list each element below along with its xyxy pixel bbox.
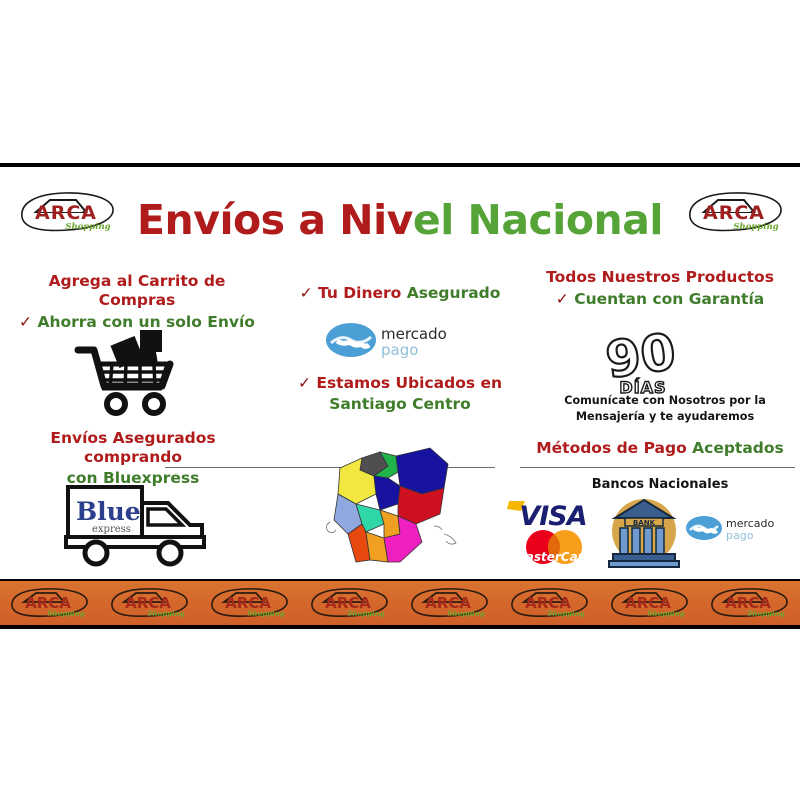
santiago-regions-map xyxy=(318,442,468,572)
mastercard-label-master: Master xyxy=(514,550,562,564)
right-warranty-subheading: Cuentan con Garantía xyxy=(574,290,764,308)
bank-building-icon: BANK xyxy=(605,492,683,570)
footer-arca-logo: ARCA Shopping xyxy=(306,585,394,621)
footer-arca-logo: ARCA Shopping xyxy=(706,585,794,621)
footer-logo-band: ARCA Shopping ARCA Shopping ARCA Shoppin… xyxy=(0,579,800,625)
title-part-red: Envíos a Niv xyxy=(137,196,413,244)
mercadopago-logo: mercado pago xyxy=(325,319,473,361)
mastercard-label-card: Card xyxy=(561,550,593,564)
mercadopago-line2: pago xyxy=(726,529,754,542)
left-block-cart-heading: Agrega al Carrito de Compras xyxy=(12,272,262,310)
svg-text:Shopping: Shopping xyxy=(347,609,384,618)
footer-arca-logo: ARCA Shopping xyxy=(406,585,494,621)
svg-text:MasterCard: MasterCard xyxy=(514,550,593,564)
right-block-payments: Métodos de Pago Aceptados xyxy=(528,439,792,458)
promo-banner: ARCA Shopping ARCA Shopping Envíos a Niv… xyxy=(0,163,800,629)
delivery-truck-icon: Blue express xyxy=(62,479,237,567)
shopping-cart-icon xyxy=(72,322,182,417)
truck-brand-express: express xyxy=(92,524,131,535)
footer-arca-logo: ARCA Shopping xyxy=(106,585,194,621)
divider-right xyxy=(520,467,795,468)
center-money-heading-red: Tu Dinero xyxy=(318,284,401,302)
check-icon: ✓ xyxy=(298,374,311,392)
svg-text:Shopping: Shopping xyxy=(647,609,684,618)
warranty-note: Comunícate con Nosotros por la Mensajerí… xyxy=(540,393,790,424)
visa-logo: VISA xyxy=(505,497,601,531)
center-money-heading-green: Asegurado xyxy=(407,284,501,302)
banks-label: Bancos Nacionales xyxy=(528,477,792,492)
right-block-warranty: Todos Nuestros Productos ✓ Cuentan con G… xyxy=(528,268,792,309)
check-icon: ✓ xyxy=(556,290,569,308)
truck-brand-blue: Blue xyxy=(76,497,141,526)
center-block-money: ✓ Tu Dinero Asegurado xyxy=(281,284,519,303)
banner-title: Envíos a Nivel Nacional xyxy=(0,196,800,244)
footer-arca-logo: ARCA Shopping xyxy=(506,585,594,621)
warranty-note-line2: Mensajería y te ayudaremos xyxy=(540,409,790,425)
svg-text:Shopping: Shopping xyxy=(247,609,284,618)
title-part-green: el Nacional xyxy=(413,196,663,244)
svg-text:Shopping: Shopping xyxy=(547,609,584,618)
svg-text:Shopping: Shopping xyxy=(147,609,184,618)
mercadopago-logo: mercado pago xyxy=(685,512,791,544)
mercadopago-line2: pago xyxy=(381,341,418,359)
svg-text:Shopping: Shopping xyxy=(447,609,484,618)
payments-heading-red: Métodos de Pago xyxy=(536,439,687,457)
center-location-heading: Estamos Ubicados en xyxy=(316,374,502,392)
payments-heading-green: Aceptados xyxy=(692,439,784,457)
check-icon: ✓ xyxy=(300,284,313,302)
mastercard-logo: MasterCard xyxy=(505,529,601,569)
svg-text:VISA: VISA xyxy=(519,501,586,531)
center-location-subheading: Santiago Centro xyxy=(281,395,519,414)
check-icon: ✓ xyxy=(19,313,32,331)
warranty-note-line1: Comunícate con Nosotros por la xyxy=(540,393,790,409)
bank-label: BANK xyxy=(633,519,656,527)
footer-arca-logo: ARCA Shopping xyxy=(6,585,94,621)
svg-text:Shopping: Shopping xyxy=(747,609,784,618)
right-warranty-heading: Todos Nuestros Productos xyxy=(528,268,792,287)
warranty-90-days-badge: 90 DÍAS xyxy=(588,325,698,397)
svg-text:Shopping: Shopping xyxy=(47,609,84,618)
footer-arca-logo: ARCA Shopping xyxy=(606,585,694,621)
footer-arca-logo: ARCA Shopping xyxy=(206,585,294,621)
left-block-shipping-heading: Envíos Asegurados comprando xyxy=(8,429,258,467)
center-block-location: ✓ Estamos Ubicados en Santiago Centro xyxy=(281,374,519,414)
